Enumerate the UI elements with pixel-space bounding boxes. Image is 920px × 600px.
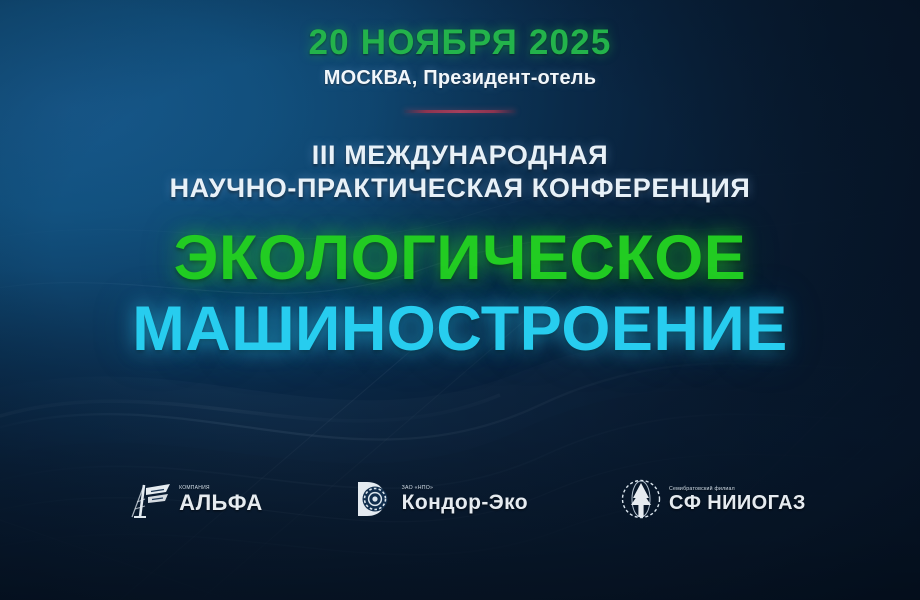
sponsor-logo-row: КОМПАНИЯ АЛЬФА ЗАО «НПО» Кондор-Эко — [0, 478, 920, 520]
event-location: МОСКВА, Президент-отель — [324, 67, 596, 90]
kicker-line-1: III МЕЖДУНАРОДНАЯ — [170, 139, 751, 172]
kicker-line-2: НАУЧНО-ПРАКТИЧЕСКАЯ КОНФЕРЕНЦИЯ — [170, 172, 751, 205]
logo-kondor-name: Кондор-Эко — [402, 492, 528, 513]
divider-rule — [404, 110, 516, 113]
tower-antenna-icon — [114, 479, 172, 519]
headline-line-1: ЭКОЛОГИЧЕСКОЕ — [132, 227, 788, 290]
logo-alfa-name: АЛЬФА — [179, 492, 263, 514]
logo-alfa-text: КОМПАНИЯ АЛЬФА — [179, 485, 263, 514]
gear-circle-icon — [355, 479, 395, 519]
event-headline: ЭКОЛОГИЧЕСКОЕ МАШИНОСТРОЕНИЕ — [132, 227, 788, 361]
logo-niiogaz-text: Семибратовский филиал СФ НИИОГАЗ — [669, 486, 806, 513]
headline-line-2: МАШИНОСТРОЕНИЕ — [132, 298, 788, 361]
globe-tree-icon — [620, 478, 662, 520]
logo-sf-niiogaz[interactable]: Семибратовский филиал СФ НИИОГАЗ — [620, 478, 806, 520]
event-date: 20 НОЯБРЯ 2025 — [308, 23, 611, 63]
logo-kondor-text: ЗАО «НПО» Кондор-Эко — [402, 485, 528, 513]
logo-niiogaz-superscript: Семибратовский филиал — [669, 486, 806, 492]
event-kicker: III МЕЖДУНАРОДНАЯ НАУЧНО-ПРАКТИЧЕСКАЯ КО… — [170, 139, 751, 205]
logo-niiogaz-name: СФ НИИОГАЗ — [669, 493, 806, 513]
logo-alfa[interactable]: КОМПАНИЯ АЛЬФА — [114, 479, 263, 519]
logo-kondor-eko[interactable]: ЗАО «НПО» Кондор-Эко — [355, 479, 528, 519]
conference-poster: 20 НОЯБРЯ 2025 МОСКВА, Президент-отель I… — [0, 0, 920, 600]
